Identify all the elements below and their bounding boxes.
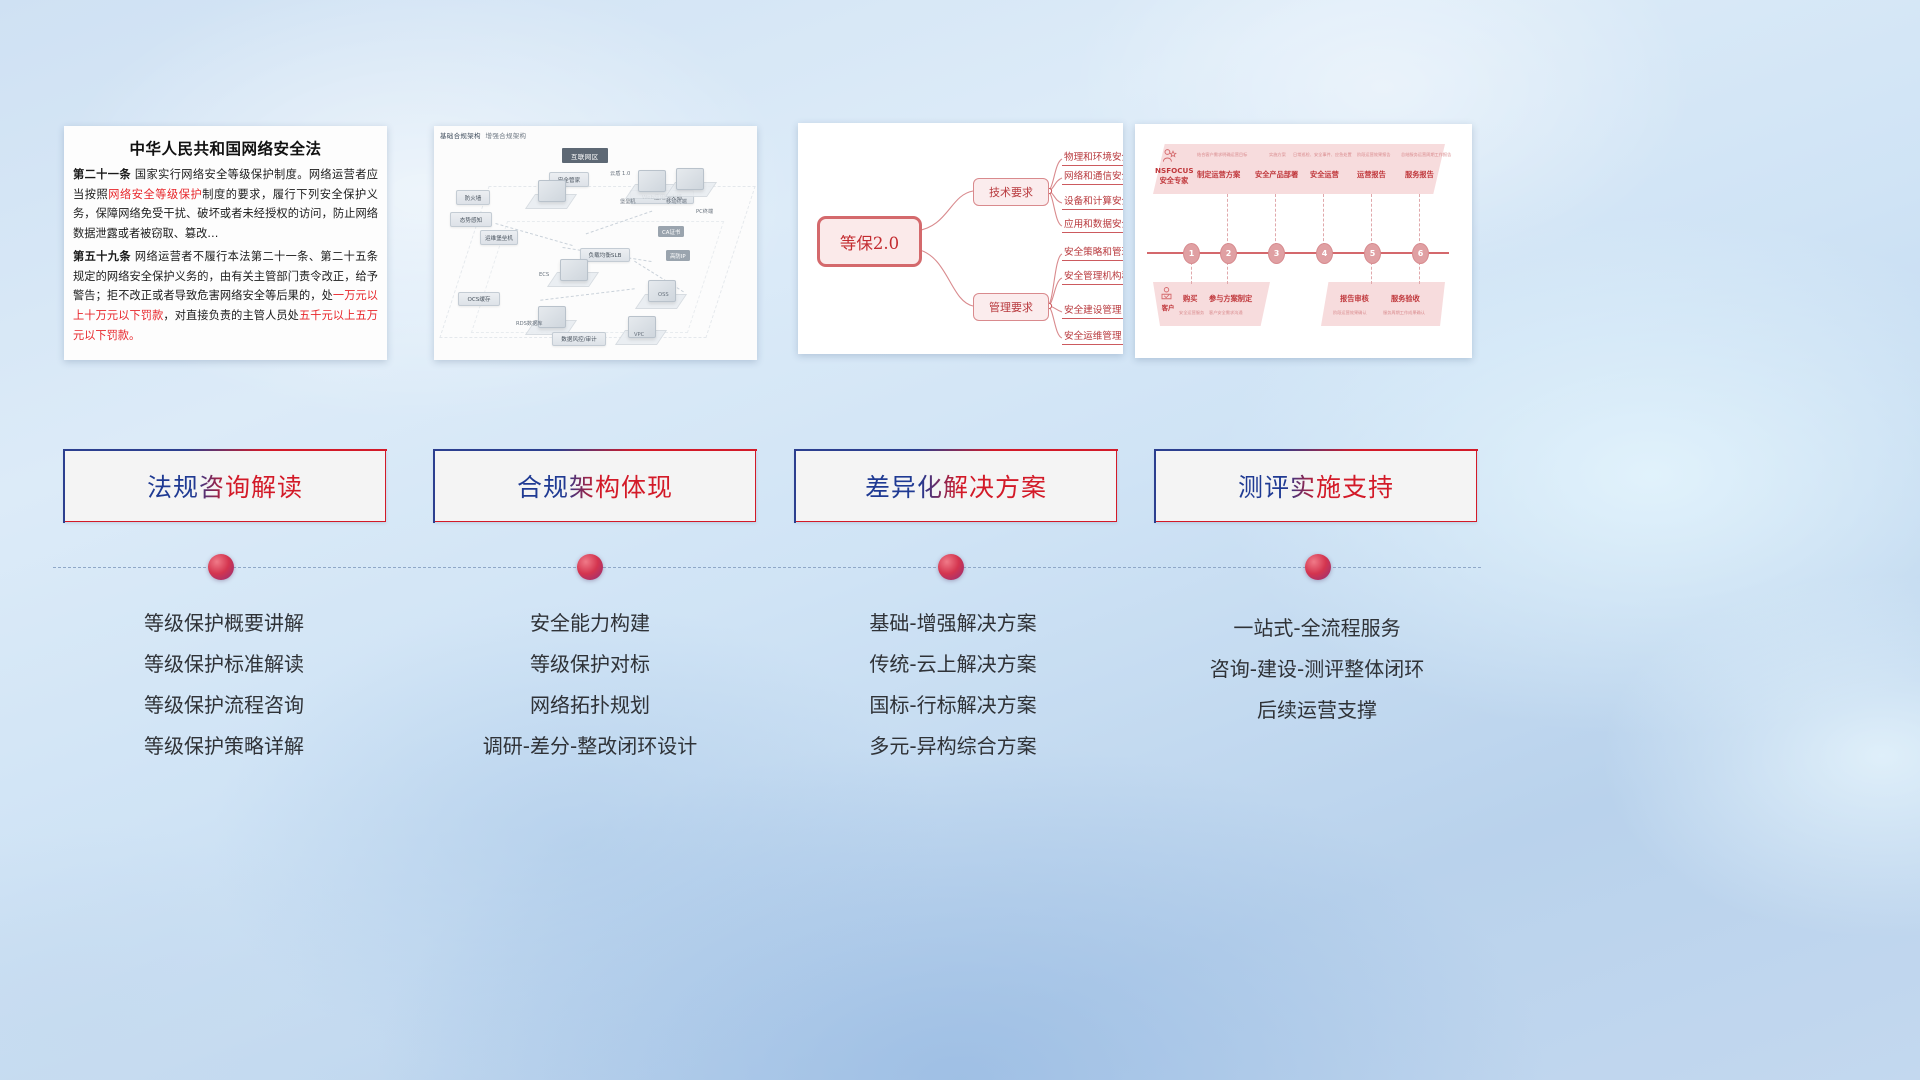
- card-cybersecurity-law: 中华人民共和国网络安全法 第二十一条 国家实行网络安全等级保护制度。网络运营者应…: [64, 126, 387, 360]
- timeline-step-marker-1: 1: [1183, 243, 1200, 264]
- timeline-connector-8: [1371, 262, 1372, 284]
- law-article-59: 第五十九条 网络运营者不履行本法第二十一条、第二十五条规定的网络安全保护义务的，…: [73, 247, 378, 346]
- timeline-connector-6: [1191, 262, 1192, 284]
- timeline-top-sub-4: 总结服务运营周期工作报告: [1401, 152, 1451, 158]
- timeline-step-marker-4: 4: [1316, 243, 1333, 264]
- section-items-4: 一站式-全流程服务 咨询-建设-测评整体闭环 后续运营支撑: [1157, 618, 1477, 741]
- architecture-tab-enhanced: 增强合规架构: [486, 132, 527, 140]
- architecture-cube-1: [538, 180, 566, 202]
- section-title-box-3[interactable]: 差异化解决方案: [795, 450, 1117, 522]
- architecture-cube-5: [676, 168, 704, 190]
- law-article-59-label: 第五十九条: [73, 250, 131, 263]
- timeline-connector-3: [1323, 194, 1324, 246]
- card-cloud-architecture: 基础合规架构 增强合规架构 互联网区 防火墙 态势感知 运维堡垒机 安全管家 负…: [434, 126, 757, 360]
- mindmap-leaf-t2: 设备和计算安全: [1062, 193, 1123, 210]
- timeline-connector-9: [1419, 262, 1420, 284]
- timeline-connector-7: [1227, 262, 1228, 284]
- list-item: 后续运营支撑: [1157, 700, 1477, 720]
- section-title-box-4[interactable]: 测评实施支持: [1155, 450, 1477, 522]
- architecture-tabs: 基础合规架构 增强合规架构: [440, 130, 526, 140]
- architecture-cube-6: [648, 280, 676, 302]
- timeline-top-sub-2: 日常巡检、安全事件、应急处置: [1293, 152, 1352, 158]
- timeline-bottom-title-3: 服务验收: [1391, 294, 1420, 304]
- list-item: 调研-差分-整改闭环设计: [430, 736, 750, 756]
- law-body: 第二十一条 国家实行网络安全等级保护制度。网络运营者应当按照网络安全等级保护制度…: [64, 165, 387, 345]
- timeline-step-marker-5: 5: [1364, 243, 1381, 264]
- mindmap-leaf-t1: 网络和通信安全: [1062, 168, 1123, 185]
- list-item: 等级保护对标: [430, 654, 750, 674]
- section-title-box-2[interactable]: 合规架构体现: [434, 450, 756, 522]
- list-item: 等级保护概要讲解: [64, 613, 384, 633]
- timeline-top-sub-1: 实施方案: [1269, 152, 1286, 158]
- timeline-brand-line2: 安全专家: [1155, 176, 1193, 186]
- security-expert-icon: [1161, 148, 1177, 164]
- law-article-21: 第二十一条 国家实行网络安全等级保护制度。网络运营者应当按照网络安全等级保护制度…: [73, 165, 378, 244]
- timeline-bottom-title-2: 报告审核: [1340, 294, 1369, 304]
- mindmap-root-node: 等保2.0: [817, 216, 922, 267]
- timeline-bottom-sub-3: 服务周期工作成果确认: [1383, 310, 1425, 316]
- architecture-node-7: VPC: [634, 332, 644, 338]
- slide-root: 中华人民共和国网络安全法 第二十一条 国家实行网络安全等级保护制度。网络运营者应…: [0, 0, 1920, 1080]
- architecture-node-11: CA证书: [658, 226, 684, 237]
- list-item: 网络拓扑规划: [430, 695, 750, 715]
- section-title-1: 法规咨询解读: [147, 468, 303, 504]
- law-article-21-label: 第二十一条: [73, 168, 131, 181]
- timeline-bottom-sub-0: 安全运营服务: [1179, 310, 1204, 316]
- timeline-bottom-band-right: [1321, 282, 1445, 326]
- architecture-node-8: RDS数据库: [516, 320, 542, 327]
- customer-icon: [1159, 286, 1174, 301]
- timeline-top-title-2: 安全运营: [1310, 170, 1339, 180]
- service-timeline: NSFOCUS 安全专家 客户 结合客户需求明确运营目标 制定运营方案 实施方案…: [1135, 124, 1472, 358]
- list-item: 一站式-全流程服务: [1157, 618, 1477, 638]
- mindmap-leaf-m0: 安全策略和管理制度: [1062, 244, 1123, 261]
- architecture-node-16: 移动终端: [666, 198, 687, 205]
- architecture-node-10: 数据风控/审计: [552, 332, 606, 346]
- timeline-bottom-title-0: 购买: [1183, 294, 1197, 304]
- list-item: 等级保护策略详解: [64, 736, 384, 756]
- architecture-zone-chip: 互联网区: [562, 148, 608, 163]
- timeline-brand: NSFOCUS 安全专家: [1155, 166, 1193, 187]
- timeline-step-marker-6: 6: [1412, 243, 1429, 264]
- section-title-3: 差异化解决方案: [865, 468, 1047, 504]
- list-item: 等级保护标准解读: [64, 654, 384, 674]
- mindmap-leaf-m2: 安全建设管理: [1062, 302, 1123, 319]
- timeline-top-sub-3: 阶段运营效果报告: [1357, 152, 1391, 158]
- architecture-node-5: ECS: [539, 272, 549, 278]
- list-item: 传统-云上解决方案: [793, 654, 1113, 674]
- rail-bead-4[interactable]: [1305, 554, 1331, 580]
- list-item: 等级保护流程咨询: [64, 695, 384, 715]
- timeline-customer-label: 客户: [1155, 304, 1181, 313]
- section-title-box-1[interactable]: 法规咨询解读: [64, 450, 386, 522]
- section-items-1: 等级保护概要讲解 等级保护标准解读 等级保护流程咨询 等级保护策略详解: [64, 613, 384, 777]
- architecture-tab-basic: 基础合规架构: [440, 132, 481, 140]
- architecture-node-15: 云盾 1.0: [610, 170, 630, 177]
- section-items-3: 基础-增强解决方案 传统-云上解决方案 国标-行标解决方案 多元-异构综合方案: [793, 613, 1113, 777]
- timeline-top-title-0: 制定运营方案: [1197, 170, 1240, 180]
- timeline-top-title-4: 服务报告: [1405, 170, 1434, 180]
- mindmap-branch-technical: 技术要求: [973, 178, 1049, 206]
- mindmap-leaf-t3: 应用和数据安全: [1062, 216, 1123, 233]
- architecture-node-12: 高防IP: [666, 250, 690, 261]
- section-title-2: 合规架构体现: [517, 468, 673, 504]
- list-item: 国标-行标解决方案: [793, 695, 1113, 715]
- mindmap-branch-management: 管理要求: [973, 293, 1049, 321]
- timeline-brand-line1: NSFOCUS: [1155, 166, 1193, 176]
- mindmap-leaf-m3: 安全运维管理: [1062, 328, 1123, 345]
- architecture-node-9: OCS缓存: [458, 292, 500, 306]
- law-title: 中华人民共和国网络安全法: [64, 137, 387, 159]
- timeline-step-marker-2: 2: [1220, 243, 1237, 264]
- law-article-21-highlight: 网络安全等级保护: [108, 188, 202, 201]
- timeline-top-sub-0: 结合客户需求明确运营目标: [1197, 152, 1247, 158]
- timeline-step-marker-3: 3: [1268, 243, 1285, 264]
- architecture-node-13: 态势感知: [450, 212, 492, 227]
- rail-bead-3[interactable]: [938, 554, 964, 580]
- timeline-bottom-sub-2: 阶段运营效果确认: [1333, 310, 1367, 316]
- architecture-cube-2: [560, 259, 588, 281]
- law-article-59-part2: ，对直接负责的主管人员处: [163, 309, 299, 322]
- architecture-node-2: 堡垒机: [620, 198, 636, 205]
- timeline-bottom-sub-1: 客户安全需求沟通: [1209, 310, 1243, 316]
- timeline-connector-4: [1371, 194, 1372, 246]
- mindmap-leaf-t0: 物理和环境安全: [1062, 149, 1123, 166]
- card-service-timeline: NSFOCUS 安全专家 客户 结合客户需求明确运营目标 制定运营方案 实施方案…: [1135, 124, 1472, 358]
- mindmap-leaf-m1: 安全管理机构和人员: [1062, 268, 1123, 285]
- list-item: 多元-异构综合方案: [793, 736, 1113, 756]
- timeline-top-title-1: 安全产品部署: [1255, 170, 1298, 180]
- section-title-4: 测评实施支持: [1238, 468, 1394, 504]
- card-mindmap-dengbao: 等保2.0 技术要求 管理要求 物理和环境安全 网络和通信安全 设备和计算安全 …: [798, 123, 1123, 354]
- rail-bead-1[interactable]: [208, 554, 234, 580]
- timeline-connector-5: [1419, 194, 1420, 246]
- timeline-connector-2: [1275, 194, 1276, 246]
- timeline-connector-1: [1227, 194, 1228, 246]
- rail-bead-2[interactable]: [577, 554, 603, 580]
- architecture-node-17: PC终端: [696, 208, 713, 215]
- timeline-top-title-3: 运营报告: [1357, 170, 1386, 180]
- timeline-rail: [53, 567, 1481, 568]
- architecture-diagram: 基础合规架构 增强合规架构 互联网区 防火墙 态势感知 运维堡垒机 安全管家 负…: [434, 126, 757, 360]
- architecture-node-6: OSS: [658, 292, 669, 298]
- architecture-node-14: 运维堡垒机: [480, 230, 518, 245]
- mindmap: 等保2.0 技术要求 管理要求 物理和环境安全 网络和通信安全 设备和计算安全 …: [798, 123, 1123, 354]
- timeline-bottom-title-1: 参与方案制定: [1209, 294, 1252, 304]
- list-item: 咨询-建设-测评整体闭环: [1157, 659, 1477, 679]
- section-items-2: 安全能力构建 等级保护对标 网络拓扑规划 调研-差分-整改闭环设计: [430, 613, 750, 777]
- architecture-node-0: 防火墙: [456, 190, 490, 205]
- list-item: 基础-增强解决方案: [793, 613, 1113, 633]
- architecture-cube-4: [638, 170, 666, 192]
- list-item: 安全能力构建: [430, 613, 750, 633]
